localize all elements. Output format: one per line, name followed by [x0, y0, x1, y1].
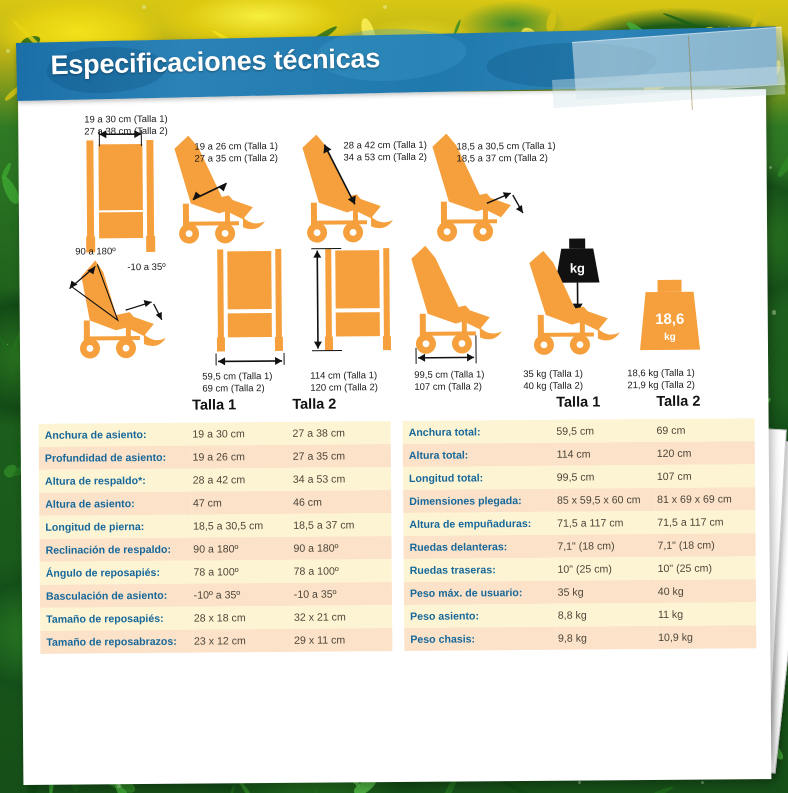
value-talla1: 35 kg: [556, 580, 656, 604]
row-label: Altura de empuñaduras:: [403, 512, 555, 536]
value-talla1: 10" (25 cm): [555, 557, 655, 581]
row-label: Altura de respaldo*:: [39, 469, 191, 493]
table-row: Tamaño de reposapiés:28 x 18 cm32 x 21 c…: [40, 605, 392, 631]
max-user-weight-icon: kg: [515, 226, 646, 377]
value-talla2: 32 x 21 cm: [292, 605, 392, 629]
value-talla2: 10,9 kg: [656, 625, 756, 649]
diagram-label-total-height: 114 cm (Talla 1) 120 cm (Talla 2): [310, 370, 378, 394]
table-row: Altura de empuñaduras:71,5 a 117 cm71,5 …: [403, 510, 755, 536]
diagram-total-height: [301, 240, 412, 381]
product-weight-unit: kg: [664, 332, 676, 343]
table-row: Longitud de pierna:18,5 a 30,5 cm18,5 a …: [39, 513, 391, 539]
row-label: Tamaño de reposabrazos:: [40, 630, 192, 654]
col-header-spec-right: [402, 391, 554, 421]
value-talla1: 19 a 30 cm: [190, 422, 290, 446]
value-talla1: 114 cm: [554, 442, 654, 466]
row-label: Basculación de asiento:: [40, 584, 192, 608]
value-talla2: 27 a 38 cm: [290, 421, 390, 445]
table-row: Anchura de asiento:19 a 30 cm27 a 38 cm: [39, 421, 391, 447]
value-talla1: 19 a 26 cm: [190, 445, 290, 469]
row-label: Tamaño de reposapiés:: [40, 607, 192, 631]
value-talla1: -10º a 35º: [192, 583, 292, 607]
spec-table-left: Talla 1 Talla 2 Anchura de asiento:19 a …: [38, 392, 392, 654]
table-row: Peso máx. de usuario:35 kg40 kg: [404, 579, 756, 605]
value-talla1: 85 x 59,5 x 60 cm: [555, 488, 655, 512]
table-row: Ángulo de reposapiés:78 a 100º78 a 100º: [40, 559, 392, 585]
table-right-body: Anchura total:59,5 cm69 cmAltura total:1…: [403, 418, 757, 651]
value-talla2: 90 a 180º: [291, 536, 391, 560]
value-talla1: 59,5 cm: [554, 419, 654, 443]
row-label: Reclinación de respaldo:: [39, 538, 191, 562]
row-label: Ruedas delanteras:: [403, 535, 555, 559]
row-label: Ángulo de reposapiés:: [40, 561, 192, 585]
table-row: Dimensiones plegada:85 x 59,5 x 60 cm81 …: [403, 487, 755, 513]
specification-tables: Talla 1 Talla 2 Anchura de asiento:19 a …: [38, 389, 756, 654]
table-row: Altura de asiento:47 cm46 cm: [39, 490, 391, 516]
value-talla2: 78 a 100º: [292, 559, 392, 583]
row-label: Anchura de asiento:: [39, 423, 191, 447]
value-talla1: 90 a 180º: [191, 537, 291, 561]
row-label: Peso máx. de usuario:: [404, 581, 556, 605]
table-row: Peso asiento:8,8 kg11 kg: [404, 602, 756, 628]
value-talla2: 29 x 11 cm: [292, 628, 392, 652]
value-talla2: 107 cm: [655, 464, 755, 488]
table-header-row: Talla 1 Talla 2: [38, 392, 390, 424]
value-talla2: 27 a 35 cm: [291, 444, 391, 468]
total-height-icon: [301, 240, 412, 376]
table-row: Tamaño de reposabrazos:23 x 12 cm29 x 11…: [40, 628, 392, 654]
value-talla1: 8,8 kg: [556, 603, 656, 627]
value-talla1: 47 cm: [191, 491, 291, 515]
row-label: Profundidad de asiento:: [39, 446, 191, 470]
row-label: Peso chasis:: [404, 627, 556, 651]
total-width-icon: [197, 245, 308, 376]
row-label: Altura de asiento:: [39, 492, 191, 516]
value-talla2: -10 a 35º: [292, 582, 392, 606]
diagram-label-recline: 90 a 180º: [75, 246, 116, 258]
spec-sheet-card: 19 a 30 cm (Talla 1) 27 a 38 cm (Talla 2…: [18, 89, 771, 785]
value-talla1: 18,5 a 30,5 cm: [191, 514, 291, 538]
table-row: Ruedas delanteras:7,1" (18 cm)7,1" (18 c…: [403, 533, 755, 559]
row-label: Peso asiento:: [404, 604, 556, 628]
diagram-label-seat-depth: 19 a 26 cm (Talla 1) 27 a 35 cm (Talla 2…: [194, 141, 278, 165]
value-talla2: 46 cm: [291, 490, 391, 514]
table-row: Profundidad de asiento:19 a 26 cm27 a 35…: [39, 444, 391, 470]
value-talla2: 120 cm: [655, 441, 755, 465]
value-talla1: 99,5 cm: [555, 465, 655, 489]
page-title: Especificaciones técnicas: [50, 43, 380, 81]
value-talla1: 78 a 100º: [191, 560, 291, 584]
table-row: Altura total:114 cm120 cm: [403, 441, 755, 467]
table-row: Anchura total:59,5 cm69 cm: [403, 418, 755, 444]
value-talla1: 7,1" (18 cm): [555, 534, 655, 558]
col-header-talla2-left: Talla 2: [290, 392, 390, 422]
value-talla2: 7,1" (18 cm): [655, 533, 755, 557]
value-talla1: 71,5 a 117 cm: [555, 511, 655, 535]
spec-table-right: Talla 1 Talla 2 Anchura total:59,5 cm69 …: [402, 389, 756, 651]
diagram-label-tilt: -10 a 35º: [127, 262, 165, 274]
diagram-total-width: [197, 245, 308, 381]
svg-text:kg: kg: [570, 261, 585, 276]
table-row: Reclinación de respaldo:90 a 180º90 a 18…: [39, 536, 391, 562]
diagram-max-user-weight: kg: [515, 226, 646, 382]
row-label: Longitud total:: [403, 466, 555, 490]
value-talla2: 11 kg: [656, 602, 756, 626]
col-header-talla1-left: Talla 1: [190, 393, 290, 423]
table-row: Longitud total:99,5 cm107 cm: [403, 464, 755, 490]
row-label: Ruedas traseras:: [404, 558, 556, 582]
diagram-label-seat-width: 19 a 30 cm (Talla 1) 27 a 38 cm (Talla 2…: [84, 114, 168, 138]
row-label: Longitud de pierna:: [39, 515, 191, 539]
table-row: Peso chasis:9,8 kg10,9 kg: [404, 625, 756, 651]
diagram-label-total-length: 99,5 cm (Talla 1) 107 cm (Talla 2): [414, 369, 484, 393]
value-talla2: 10" (25 cm): [656, 556, 756, 580]
table-row: Altura de respaldo*:28 a 42 cm34 a 53 cm: [39, 467, 391, 493]
row-label: Altura total:: [403, 443, 555, 467]
diagram-label-product-weight: 18,6 kg (Talla 1) 21,9 kg (Talla 2): [627, 368, 695, 392]
technical-diagrams: 19 a 30 cm (Talla 1) 27 a 38 cm (Talla 2…: [18, 89, 768, 405]
col-header-talla1-right: Talla 1: [554, 390, 654, 420]
diagram-label-backrest-height: 28 a 42 cm (Talla 1) 34 a 53 cm (Talla 2…: [343, 140, 427, 164]
diagram-label-total-width: 59,5 cm (Talla 1) 69 cm (Talla 2): [202, 371, 272, 395]
product-weight-value: 18,6: [655, 311, 684, 328]
value-talla1: 23 x 12 cm: [192, 629, 292, 653]
diagram-label-leg-length: 18,5 a 30,5 cm (Talla 1) 18,5 a 37 cm (T…: [456, 141, 555, 165]
diagram-total-length: [405, 243, 526, 379]
row-label: Dimensiones plegada:: [403, 489, 555, 513]
value-talla1: 28 x 18 cm: [192, 606, 292, 630]
table-header-row: Talla 1 Talla 2: [402, 389, 754, 421]
value-talla2: 69 cm: [654, 418, 754, 442]
col-header-spec-left: [38, 394, 190, 424]
value-talla2: 34 a 53 cm: [291, 467, 391, 491]
row-label: Anchura total:: [403, 420, 555, 444]
total-length-icon: [405, 243, 526, 374]
value-talla2: 71,5 a 117 cm: [655, 510, 755, 534]
diagram-label-max-user-weight: 35 kg (Talla 1) 40 kg (Talla 2): [523, 369, 583, 392]
value-talla1: 9,8 kg: [556, 626, 656, 650]
table-row: Basculación de asiento:-10º a 35º-10 a 3…: [40, 582, 392, 608]
col-header-talla2-right: Talla 2: [654, 389, 754, 419]
value-talla2: 40 kg: [656, 579, 756, 603]
value-talla2: 81 x 69 x 69 cm: [655, 487, 755, 511]
table-left-body: Anchura de asiento:19 a 30 cm27 a 38 cmP…: [39, 421, 393, 654]
table-row: Ruedas traseras:10" (25 cm)10" (25 cm): [404, 556, 756, 582]
value-talla2: 18,5 a 37 cm: [291, 513, 391, 537]
value-talla1: 28 a 42 cm: [191, 468, 291, 492]
